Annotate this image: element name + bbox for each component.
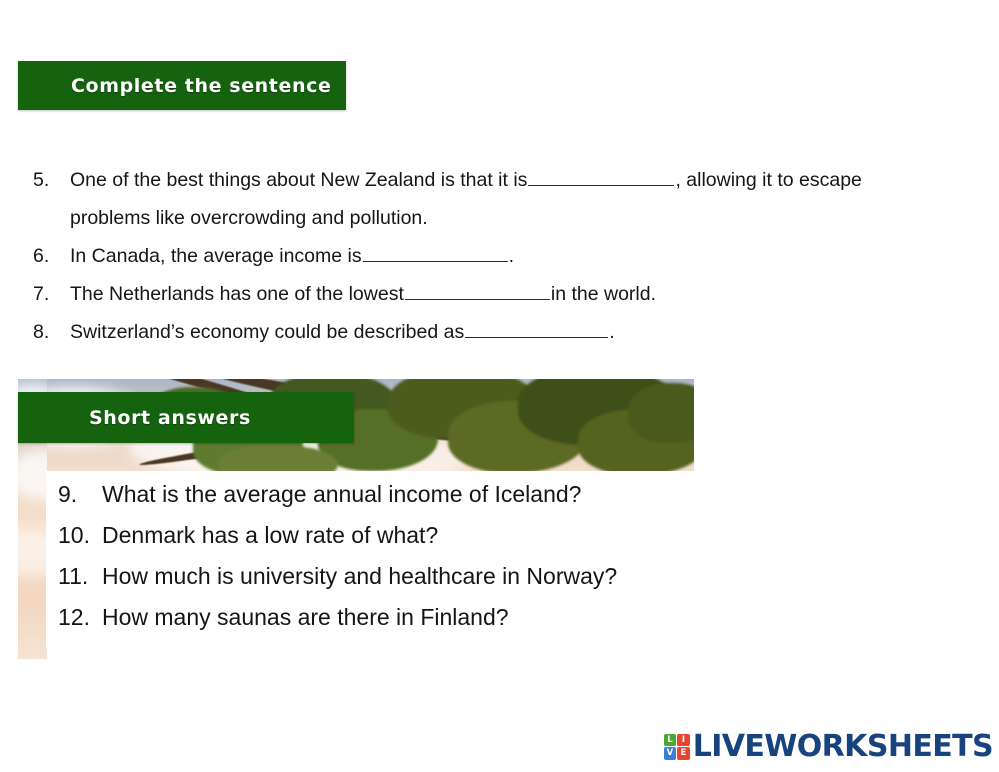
list-item: 10. Denmark has a low rate of what? <box>58 515 698 556</box>
question-text: In Canada, the average income is. <box>70 237 923 275</box>
list-item: 9. What is the average annual income of … <box>58 474 698 515</box>
question-text-before: The Netherlands has one of the lowest <box>70 283 404 305</box>
logo-cell-v: V <box>664 747 677 760</box>
list-item: 8. Switzerland’s economy could be descri… <box>33 313 923 351</box>
fill-in-the-blank-list: 5. One of the best things about New Zeal… <box>33 161 923 351</box>
question-number: 11. <box>58 556 102 597</box>
logo-cell-i: I <box>677 734 690 747</box>
answer-blank-6[interactable] <box>363 244 508 262</box>
list-item: 6. In Canada, the average income is. <box>33 237 923 275</box>
logo-cell-e: E <box>677 747 690 760</box>
question-text: The Netherlands has one of the lowestin … <box>70 275 923 313</box>
question-text: How many saunas are there in Finland? <box>102 597 509 638</box>
question-text: What is the average annual income of Ice… <box>102 474 581 515</box>
question-number: 12. <box>58 597 102 638</box>
question-number: 5. <box>33 161 70 199</box>
question-text-after: . <box>609 321 614 343</box>
question-text-before: Switzerland’s economy could be described… <box>70 321 464 343</box>
liveworksheets-logo-icon: L I V E <box>664 734 690 760</box>
liveworksheets-logo[interactable]: L I V E LIVEWORKSHEETS <box>664 729 993 764</box>
question-text-before: In Canada, the average income is <box>70 245 362 267</box>
question-text-before: One of the best things about New Zealand… <box>70 169 527 191</box>
section-banner-short-answers: Short answers <box>18 392 354 443</box>
list-item: 5. One of the best things about New Zeal… <box>33 161 923 237</box>
section-banner-label: Complete the sentence <box>71 75 331 97</box>
cloud-shape <box>18 529 47 577</box>
section-banner-label: Short answers <box>89 407 251 429</box>
answer-blank-7[interactable] <box>405 282 550 300</box>
question-text: How much is university and healthcare in… <box>102 556 617 597</box>
answer-blank-8[interactable] <box>465 320 608 338</box>
question-number: 6. <box>33 237 70 275</box>
section-banner-complete-the-sentence: Complete the sentence <box>18 61 346 110</box>
logo-cell-l: L <box>664 734 677 747</box>
question-number: 8. <box>33 313 70 351</box>
list-item: 12. How many saunas are there in Finland… <box>58 597 698 638</box>
question-number: 7. <box>33 275 70 313</box>
question-text: Switzerland’s economy could be described… <box>70 313 923 351</box>
short-answers-list: 9. What is the average annual income of … <box>58 474 698 638</box>
question-text: Denmark has a low rate of what? <box>102 515 438 556</box>
cloud-shape <box>18 449 47 499</box>
list-item: 7. The Netherlands has one of the lowest… <box>33 275 923 313</box>
question-number: 9. <box>58 474 102 515</box>
question-text-after: in the world. <box>551 283 656 305</box>
list-item: 11. How much is university and healthcar… <box>58 556 698 597</box>
liveworksheets-wordmark: LIVEWORKSHEETS <box>693 729 993 764</box>
answer-blank-5[interactable] <box>528 168 674 186</box>
foliage-cluster <box>628 383 694 443</box>
question-text-after: . <box>509 245 514 267</box>
question-number: 10. <box>58 515 102 556</box>
question-text: One of the best things about New Zealand… <box>70 161 923 237</box>
